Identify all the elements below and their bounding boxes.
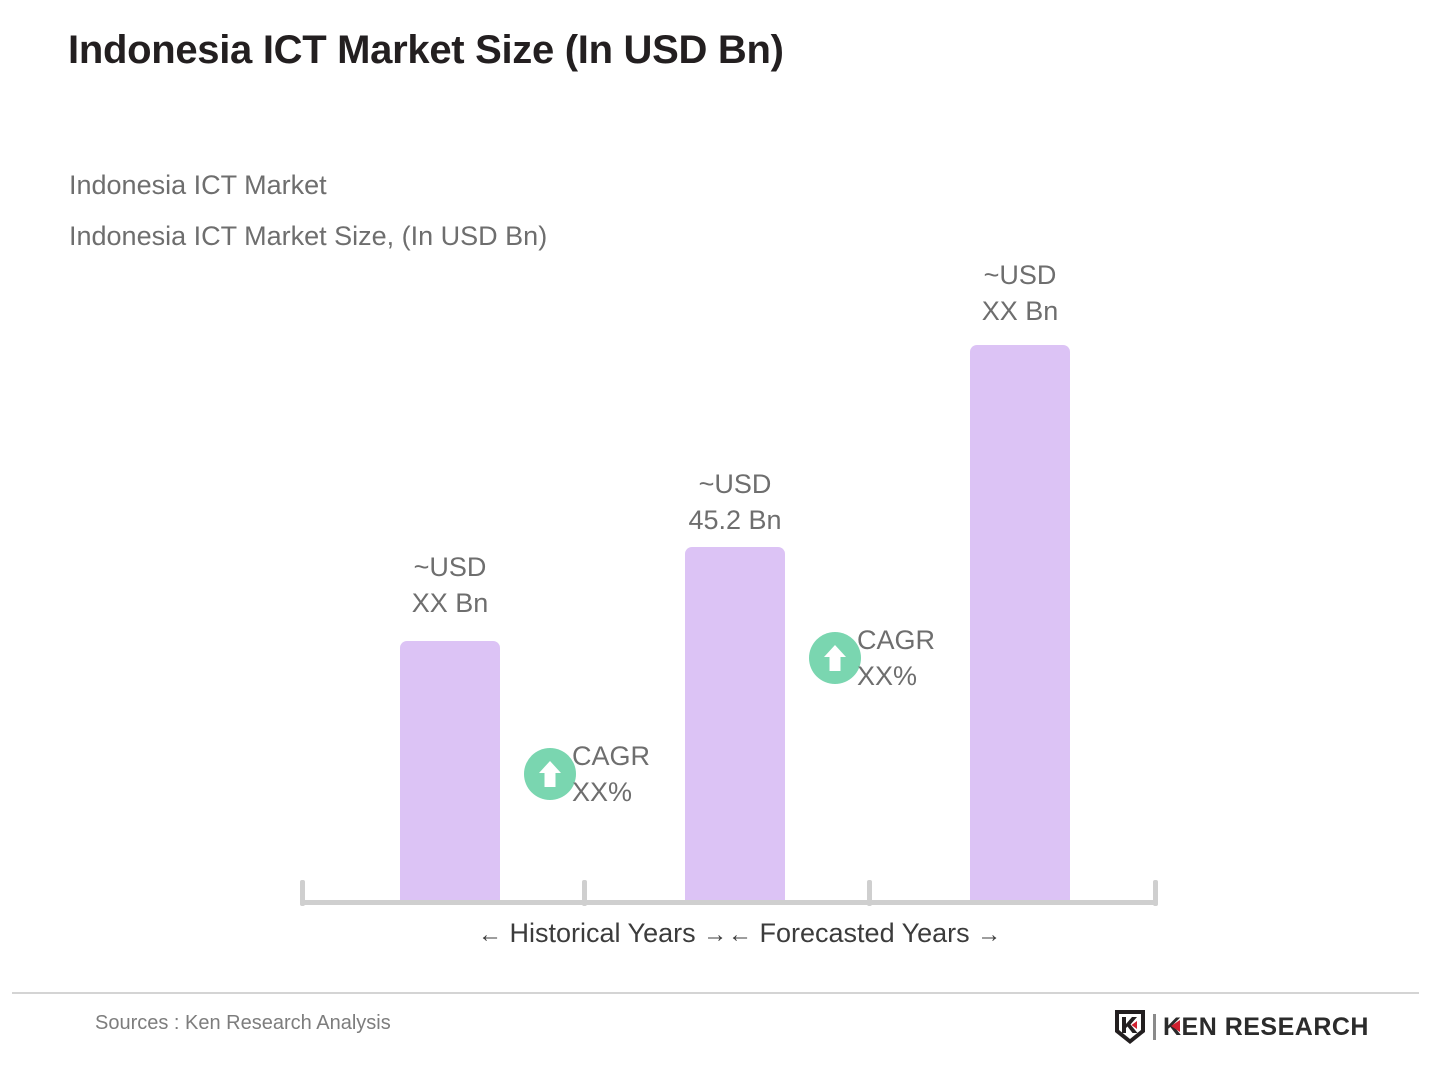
arrow-up-icon [524, 748, 576, 800]
wordmark-divider [1153, 1014, 1156, 1040]
bar-label-line-1: ~USD [635, 466, 835, 502]
cagr-annotation-1: CAGR XX% [524, 738, 650, 810]
red-triangle-icon [1171, 1020, 1180, 1032]
bar-label-line-1: ~USD [920, 257, 1120, 293]
x-axis-line [300, 900, 1158, 905]
bar-base-year [685, 547, 785, 903]
source-note: Sources : Ken Research Analysis [95, 1012, 391, 1035]
ken-research-shield-icon [1113, 1008, 1147, 1046]
cagr-value: XX% [572, 774, 650, 810]
brand-wordmark: K EN RESEARCH [1149, 1013, 1369, 1042]
arrow-up-icon [809, 632, 861, 684]
axis-caption-forecasted: ← Forecasted Years → [728, 918, 1001, 949]
bar-label-line-2: XX Bn [920, 293, 1120, 329]
axis-tick-divider-1 [582, 880, 587, 906]
axis-caption-forecasted-label: Forecasted Years [760, 918, 970, 948]
wordmark-rest: EN RESEARCH [1182, 1013, 1369, 1042]
bar-label-line-1: ~USD [350, 549, 550, 585]
axis-tick-start [300, 880, 305, 906]
bar-label-line-2: 45.2 Bn [635, 502, 835, 538]
cagr-annotation-2-text: CAGR XX% [857, 622, 935, 694]
cagr-label: CAGR [572, 738, 650, 774]
bar-label-line-2: XX Bn [350, 585, 550, 621]
arrow-right-icon: → [703, 921, 727, 948]
bar-label-historical-year: ~USD XX Bn [350, 549, 550, 621]
axis-tick-divider-2 [867, 880, 872, 906]
cagr-annotation-1-text: CAGR XX% [572, 738, 650, 810]
bar-chart: ~USD XX Bn ~USD 45.2 Bn ~USD XX Bn CAGR … [0, 0, 1431, 975]
axis-caption-historical: ← Historical Years → [478, 918, 727, 949]
wordmark-k: K [1163, 1013, 1182, 1042]
arrow-right-icon: → [977, 921, 1001, 948]
bar-historical-year [400, 641, 500, 903]
bar-label-forecast-year: ~USD XX Bn [920, 257, 1120, 329]
axis-tick-end [1153, 880, 1158, 906]
cagr-label: CAGR [857, 622, 935, 658]
arrow-left-icon: ← [478, 921, 502, 948]
footer-divider [12, 992, 1419, 994]
cagr-annotation-2: CAGR XX% [809, 622, 935, 694]
cagr-value: XX% [857, 658, 935, 694]
brand-logo: K EN RESEARCH [1113, 1008, 1369, 1046]
bar-label-base-year: ~USD 45.2 Bn [635, 466, 835, 538]
bar-forecast-year [970, 345, 1070, 903]
axis-caption-historical-label: Historical Years [510, 918, 696, 948]
arrow-left-icon: ← [728, 921, 752, 948]
